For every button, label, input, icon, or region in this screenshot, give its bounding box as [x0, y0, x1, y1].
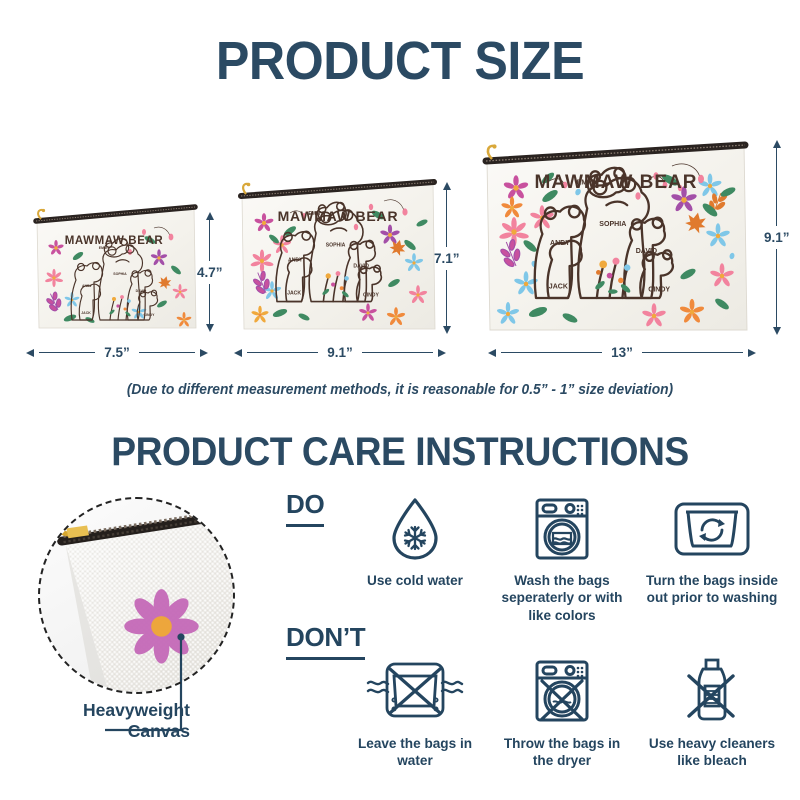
heavyweight-canvas-label: Heavyweight Canvas [30, 700, 190, 742]
dimension-line [362, 352, 433, 353]
dimension-line [501, 352, 602, 353]
svg-text:SOPHIA: SOPHIA [326, 243, 346, 249]
arrow-left [26, 349, 34, 357]
svg-text:CINDY: CINDY [363, 293, 379, 299]
svg-text:CINDY: CINDY [144, 313, 156, 317]
svg-text:SOPHIA: SOPHIA [113, 272, 127, 276]
dont-heading: DON’T [286, 622, 365, 653]
dimension-height-medium: 7.1” [434, 182, 460, 334]
dimension-line [776, 249, 777, 327]
svg-text:ANDY: ANDY [288, 257, 303, 263]
arrow-down [443, 326, 451, 334]
dimension-height-large: 9.1” [764, 140, 790, 335]
svg-text:JACK: JACK [287, 290, 301, 296]
hw-line1: Heavyweight [30, 700, 190, 721]
do-label: DO [286, 489, 324, 527]
dimension-height-label: 7.1” [434, 247, 460, 270]
care-caption: Throw the bags in the dryer [496, 735, 628, 770]
svg-text:EMMY: EMMY [99, 246, 110, 250]
dimension-line [642, 352, 743, 353]
dimension-width-small: 7.5” [26, 345, 208, 360]
dryer-crossed-icon [496, 655, 628, 729]
arrow-right [748, 349, 756, 357]
washing-machine-icon [496, 492, 628, 566]
svg-text:EMMY: EMMY [577, 179, 598, 186]
dimension-line [139, 352, 195, 353]
arrow-left [488, 349, 496, 357]
arrow-left [234, 349, 242, 357]
care-item-inside-out: Turn the bags inside out prior to washin… [646, 492, 778, 607]
size-deviation-note: (Due to different measurement methods, i… [20, 382, 780, 398]
page-title: PRODUCT SIZE [28, 30, 772, 92]
bag-in-water-crossed-icon [349, 655, 481, 729]
dimension-width-large: 13” [488, 345, 756, 360]
dimension-height-small: 4.7” [197, 212, 223, 332]
dimension-width-label: 13” [607, 345, 637, 360]
arrow-down [773, 327, 781, 335]
hw-line2: Canvas [30, 721, 190, 742]
cross-out [689, 676, 733, 716]
svg-text:ANDY: ANDY [82, 284, 93, 288]
care-item-no-bleach: Use heavy cleaners like bleach [646, 655, 778, 770]
arrow-right [200, 349, 208, 357]
care-caption: Leave the bags in water [349, 735, 481, 770]
dimension-height-label: 9.1” [764, 226, 790, 249]
arrow-up [443, 182, 451, 190]
svg-text:JACK: JACK [81, 311, 91, 315]
dimension-width-label: 9.1” [323, 345, 357, 360]
water-drop-snowflake-icon [349, 492, 481, 566]
care-section-title: PRODUCT CARE INSTRUCTIONS [28, 430, 772, 475]
bag-medium: MAWMAW BEAR [238, 165, 438, 333]
bag-large: MAWMAW BEAR [482, 126, 750, 334]
svg-text:EMMY: EMMY [308, 211, 324, 217]
arrow-down [206, 324, 214, 332]
do-heading: DO [286, 489, 324, 520]
care-caption: Turn the bags inside out prior to washin… [646, 572, 778, 607]
care-caption: Use heavy cleaners like bleach [646, 735, 778, 770]
dimension-line [39, 352, 95, 353]
arrow-up [773, 140, 781, 148]
arrow-up [206, 212, 214, 220]
svg-text:JACK: JACK [549, 283, 569, 290]
svg-text:DAVID: DAVID [136, 289, 147, 293]
dimension-line [209, 284, 210, 325]
bleach-bottle-crossed-icon [646, 655, 778, 729]
dimension-line [446, 190, 447, 247]
dimension-width-label: 7.5” [100, 345, 134, 360]
bag-print-title: MAWMAW BEAR [535, 172, 698, 193]
svg-text:ANDY: ANDY [550, 240, 570, 247]
care-item-wash-separately: Wash the bags seperaterly or with like c… [496, 492, 628, 624]
bag-inside-out-icon [646, 492, 778, 566]
care-item-no-dryer: Throw the bags in the dryer [496, 655, 628, 770]
dimension-line [776, 148, 777, 226]
svg-text:DAVID: DAVID [636, 248, 657, 255]
svg-text:CINDY: CINDY [648, 287, 670, 294]
care-item-leave-in-water: Leave the bags in water [349, 655, 481, 770]
arrow-right [438, 349, 446, 357]
dimension-line [446, 270, 447, 327]
leader-dot [177, 633, 184, 640]
dimension-height-label: 4.7” [197, 261, 223, 284]
care-item-use-cold-water: Use cold water [349, 492, 481, 589]
care-caption: Wash the bags seperaterly or with like c… [496, 572, 628, 624]
svg-text:DAVID: DAVID [353, 263, 369, 269]
bag-small: MAWMAW BEAR [34, 192, 199, 332]
dimension-line [209, 220, 210, 261]
dimension-width-medium: 9.1” [234, 345, 446, 360]
dimension-line [247, 352, 318, 353]
svg-text:SOPHIA: SOPHIA [599, 221, 626, 228]
care-caption: Use cold water [349, 572, 481, 589]
